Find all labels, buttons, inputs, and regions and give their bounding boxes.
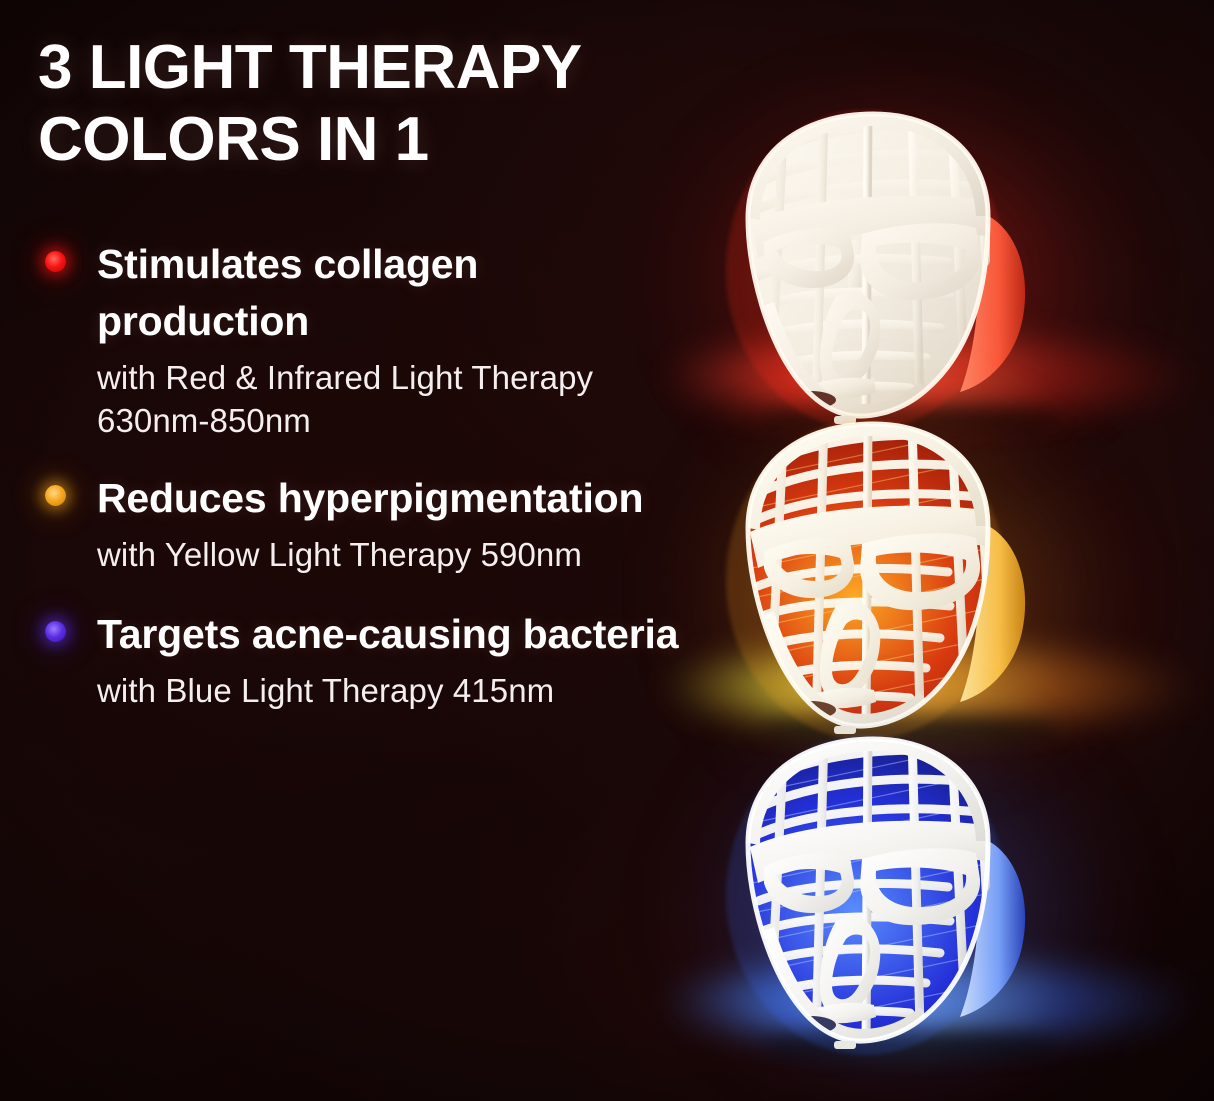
blue-light-dot-icon — [45, 621, 66, 642]
benefits-list: Stimulates collagen production with Red … — [0, 236, 680, 738]
product-image-led-face-mask-blue — [640, 715, 1214, 1075]
benefit-title: Targets acne-causing bacteria — [97, 606, 680, 663]
benefit-subtitle: with Yellow Light Therapy 590nm — [97, 533, 680, 576]
benefit-item-red: Stimulates collagen production with Red … — [0, 236, 680, 442]
led-face-mask-yellow-illustration — [688, 410, 1058, 750]
benefit-title: Stimulates collagen production — [97, 236, 680, 350]
benefit-item-blue: Targets acne-causing bacteria with Blue … — [0, 606, 680, 712]
page-title: 3 LIGHT THERAPY COLORS IN 1 — [38, 32, 648, 176]
content-column: 3 LIGHT THERAPY COLORS IN 1 Stimulates c… — [0, 0, 680, 1101]
benefit-subtitle: with Blue Light Therapy 415nm — [97, 669, 680, 712]
benefit-item-yellow: Reduces hyperpigmentation with Yellow Li… — [0, 470, 680, 576]
benefit-subtitle: with Red & Infrared Light Therapy 630nm-… — [97, 356, 680, 442]
product-image-group — [640, 0, 1214, 1101]
product-image-led-face-mask-yellow — [640, 400, 1214, 760]
yellow-light-dot-icon — [45, 485, 66, 506]
led-face-mask-blue-illustration — [688, 725, 1058, 1065]
product-image-led-face-mask-red — [640, 90, 1214, 450]
led-face-mask-red-illustration — [688, 100, 1058, 440]
red-light-dot-icon — [45, 251, 66, 272]
benefit-title: Reduces hyperpigmentation — [97, 470, 680, 527]
